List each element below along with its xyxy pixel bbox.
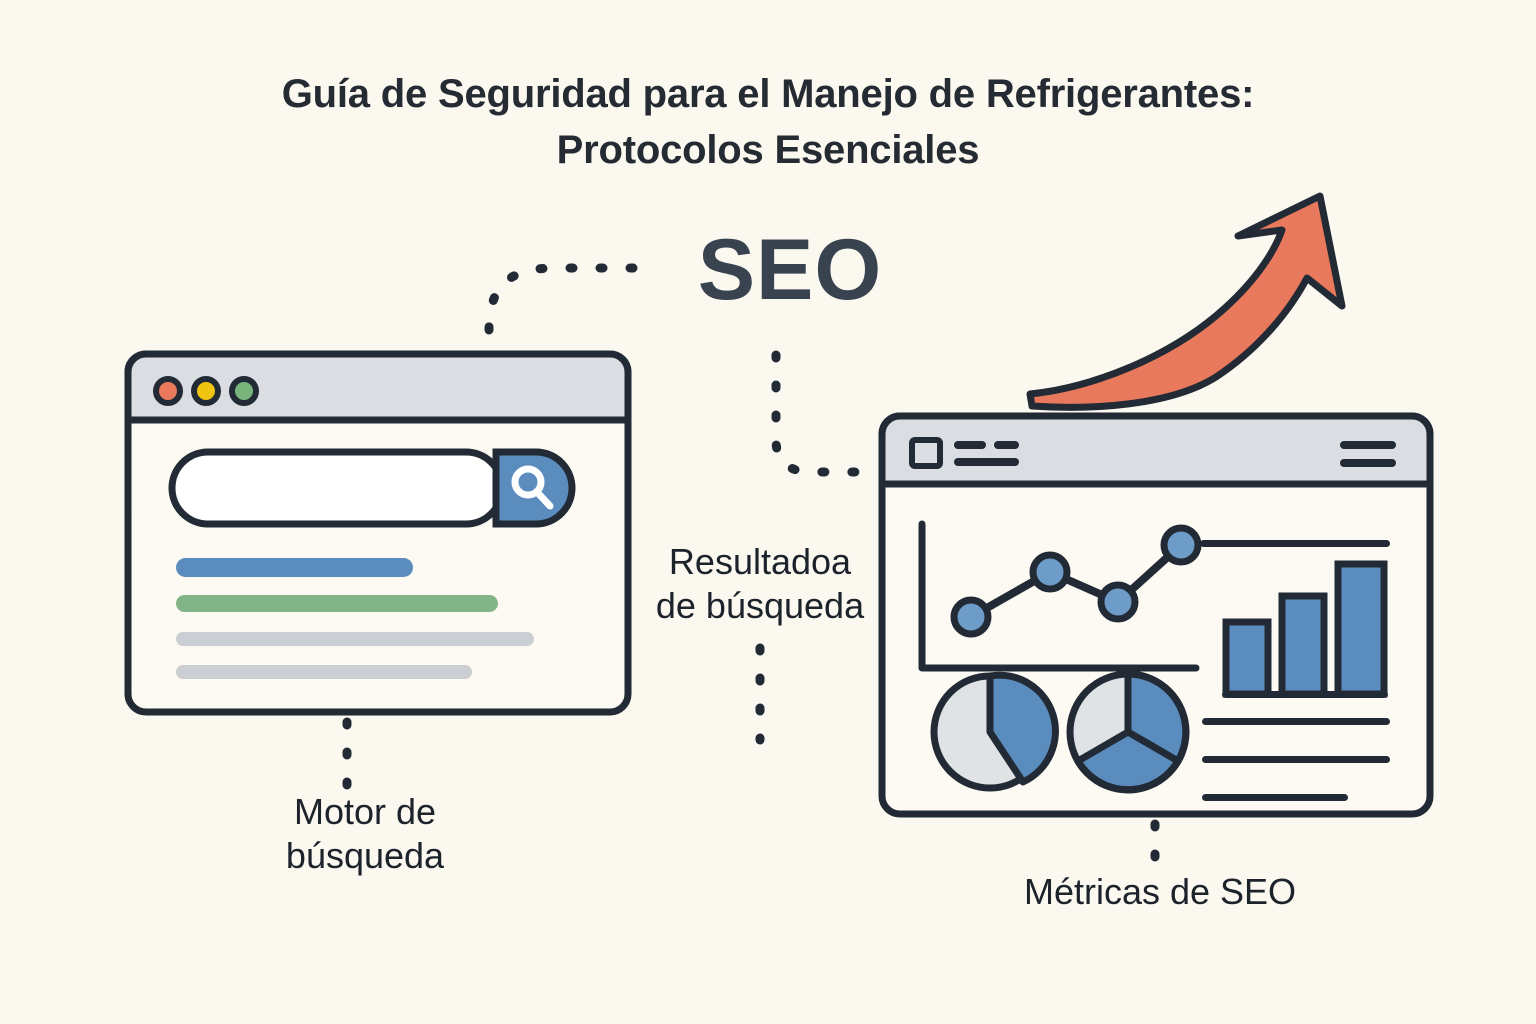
tab-bar-short-icon[interactable] xyxy=(954,441,986,449)
bar-chart-bar[interactable] xyxy=(1338,564,1384,694)
bar-chart-bar[interactable] xyxy=(1282,596,1324,694)
maximize-dot[interactable] xyxy=(232,379,256,403)
close-dot[interactable] xyxy=(156,379,180,403)
label-search-engine-line-2: búsqueda xyxy=(215,834,515,878)
result-bar-title[interactable] xyxy=(176,558,413,577)
hamburger-bar-icon[interactable] xyxy=(1340,441,1396,449)
label-search-results-line-2: de búsqueda xyxy=(600,584,920,628)
text-line xyxy=(1202,756,1390,763)
connector-seo-to-metrics-window xyxy=(776,355,872,472)
line-chart-point[interactable] xyxy=(1164,528,1198,562)
pie-chart-two-slice xyxy=(934,675,1055,788)
metrics-window-titlebar xyxy=(882,416,1430,484)
infographic-canvas: Guía de Seguridad para el Manejo de Refr… xyxy=(0,0,1536,1024)
bar-chart-baseline xyxy=(1222,691,1388,698)
hamburger-bar-icon[interactable] xyxy=(1340,459,1396,467)
tab-bar-long-icon[interactable] xyxy=(954,458,1019,466)
connector-search-window-to-seo xyxy=(489,268,648,330)
metrics-top-rule xyxy=(1200,540,1390,547)
label-search-results: Resultadoa de búsqueda xyxy=(600,540,920,628)
tab-bar-short-icon[interactable] xyxy=(994,441,1019,449)
bar-chart-bar[interactable] xyxy=(1226,622,1268,694)
growth-arrow xyxy=(1020,188,1390,418)
line-chart-point[interactable] xyxy=(1033,555,1067,589)
seo-metrics-browser-window[interactable] xyxy=(878,412,1434,818)
line-chart-point[interactable] xyxy=(954,600,988,634)
label-search-results-line-1: Resultadoa xyxy=(600,540,920,584)
search-engine-browser-window[interactable] xyxy=(124,350,632,716)
label-search-engine: Motor de búsqueda xyxy=(215,790,515,878)
pie-chart-three-slice xyxy=(1070,674,1186,790)
minimize-dot[interactable] xyxy=(194,379,218,403)
result-bar-text-2 xyxy=(176,665,472,679)
line-chart-point[interactable] xyxy=(1101,585,1135,619)
search-input[interactable] xyxy=(172,452,502,524)
result-bar-text-1 xyxy=(176,632,534,646)
search-button[interactable] xyxy=(496,452,572,524)
label-seo-metrics: Métricas de SEO xyxy=(960,870,1360,914)
text-line xyxy=(1202,794,1348,801)
growth-arrow-shape xyxy=(1030,196,1342,407)
label-search-engine-line-1: Motor de xyxy=(215,790,515,834)
result-bar-url[interactable] xyxy=(176,595,498,612)
text-line xyxy=(1202,718,1390,725)
